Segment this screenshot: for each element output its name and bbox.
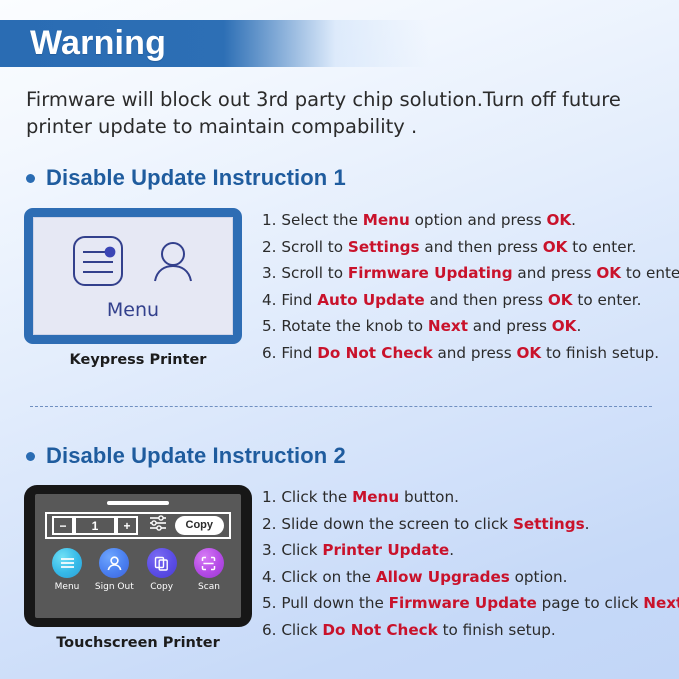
step-number: 5.: [262, 594, 281, 612]
instruction-step: 4. Click on the Allow Upgrades option.: [262, 564, 674, 591]
instruction-step: 2. Slide down the screen to click Settin…: [262, 511, 674, 538]
user-icon: [150, 236, 196, 291]
step-highlight: OK: [516, 344, 541, 362]
step-number: 3.: [262, 264, 281, 282]
scan-frame-icon[interactable]: [194, 548, 224, 578]
documents-icon[interactable]: [147, 548, 177, 578]
instruction-list-2: 1. Click the Menu button.2. Slide down t…: [262, 484, 674, 643]
keypress-printer-caption: Keypress Printer: [24, 352, 252, 368]
step-text: Pull down the: [281, 594, 388, 612]
step-text: to enter.: [573, 291, 642, 309]
step-highlight: Settings: [513, 515, 585, 533]
instruction-step: 5. Pull down the Firmware Update page to…: [262, 590, 674, 617]
keypress-printer-bezel: Menu: [24, 208, 242, 344]
step-text: Slide down the screen to click: [281, 515, 513, 533]
toolbar-right-group: Copy: [148, 514, 225, 537]
touchscreen-printer-bezel: − 1 +: [24, 485, 252, 627]
copies-stepper[interactable]: − 1 +: [52, 516, 138, 535]
step-text: and press: [513, 264, 597, 282]
instruction-list-1: 1. Select the Menu option and press OK.2…: [262, 207, 674, 366]
step-number: 3.: [262, 541, 281, 559]
step-text: Find: [281, 344, 317, 362]
touchscreen-printer-figure: − 1 +: [24, 485, 252, 651]
step-highlight: Auto Update: [317, 291, 424, 309]
app-label: Copy: [150, 582, 173, 592]
instruction-step: 3. Click Printer Update.: [262, 537, 674, 564]
step-number: 6.: [262, 621, 281, 639]
step-text: option and press: [410, 211, 547, 229]
step-text: Click: [281, 621, 322, 639]
step-highlight: Next: [428, 317, 468, 335]
step-highlight: Do Not Check: [322, 621, 437, 639]
step-highlight: Firmware Updating: [348, 264, 513, 282]
stepper-minus-button[interactable]: −: [52, 516, 74, 535]
touchscreen-toolbar: − 1 +: [45, 512, 231, 539]
menu-list-icon: [70, 233, 126, 294]
step-text: .: [449, 541, 454, 559]
app-copy[interactable]: Copy: [140, 548, 184, 592]
step-text: and press: [468, 317, 552, 335]
step-text: .: [585, 515, 590, 533]
instruction-step: 5. Rotate the knob to Next and press OK.: [262, 313, 674, 340]
step-text: Click: [281, 541, 322, 559]
instruction-step: 1. Select the Menu option and press OK.: [262, 207, 674, 234]
section-title: Disable Update Instruction 1: [46, 165, 346, 191]
instruction-step: 6. Click Do Not Check to finish setup.: [262, 617, 674, 644]
step-text: .: [576, 317, 581, 335]
section-heading-2: Disable Update Instruction 2: [26, 443, 346, 469]
step-highlight: Menu: [352, 488, 399, 506]
keypress-printer-screen: Menu: [33, 217, 233, 335]
keypress-printer-figure: Menu Keypress Printer: [24, 208, 252, 368]
step-highlight: Menu: [363, 211, 410, 229]
step-highlight: OK: [596, 264, 621, 282]
step-text: Rotate the knob to: [281, 317, 428, 335]
step-text: .: [571, 211, 576, 229]
section-divider: [30, 406, 652, 407]
app-menu[interactable]: Menu: [45, 548, 89, 592]
stepper-plus-button[interactable]: +: [116, 516, 138, 535]
step-highlight: Do Not Check: [317, 344, 432, 362]
step-highlight: Next: [643, 594, 679, 612]
step-text: option.: [510, 568, 568, 586]
step-highlight: Printer Update: [322, 541, 449, 559]
intro-paragraph: Firmware will block out 3rd party chip s…: [26, 86, 626, 140]
instruction-step: 1. Click the Menu button.: [262, 484, 674, 511]
hamburger-icon[interactable]: [52, 548, 82, 578]
step-text: and then press: [425, 291, 548, 309]
step-text: Select the: [281, 211, 362, 229]
copy-button[interactable]: Copy: [175, 516, 225, 535]
step-text: to enter.: [621, 264, 679, 282]
instruction-step: 4. Find Auto Update and then press OK to…: [262, 287, 674, 314]
keypress-screen-icons: [70, 233, 196, 294]
page-title: Warning: [30, 22, 166, 65]
step-number: 2.: [262, 238, 281, 256]
step-highlight: OK: [546, 211, 571, 229]
step-highlight: OK: [543, 238, 568, 256]
step-text: to finish setup.: [541, 344, 659, 362]
step-text: to enter.: [567, 238, 636, 256]
section-title: Disable Update Instruction 2: [46, 443, 346, 469]
app-label: Scan: [198, 582, 220, 592]
step-text: page to click: [537, 594, 643, 612]
touchscreen-app-row: Menu Sign Out: [45, 548, 231, 592]
step-highlight: OK: [552, 317, 577, 335]
step-highlight: Firmware Update: [389, 594, 537, 612]
section-heading-1: Disable Update Instruction 1: [26, 165, 346, 191]
step-text: Scroll to: [281, 238, 348, 256]
app-label: Sign Out: [95, 582, 134, 592]
instruction-step: 3. Scroll to Firmware Updating and press…: [262, 260, 674, 287]
step-number: 5.: [262, 317, 281, 335]
step-highlight: OK: [548, 291, 573, 309]
speaker-bar: [107, 501, 169, 505]
step-number: 1.: [262, 211, 281, 229]
app-scan[interactable]: Scan: [187, 548, 231, 592]
sliders-icon[interactable]: [148, 514, 168, 537]
step-number: 4.: [262, 568, 281, 586]
warning-leaflet: Warning Firmware will block out 3rd part…: [0, 0, 679, 679]
keypress-menu-label: Menu: [107, 299, 159, 321]
instruction-step: 6. Find Do Not Check and press OK to fin…: [262, 340, 674, 367]
step-text: Click on the: [281, 568, 376, 586]
step-text: Find: [281, 291, 317, 309]
bullet-icon: [26, 452, 35, 461]
stepper-value: 1: [74, 516, 116, 535]
step-text: button.: [399, 488, 459, 506]
step-number: 1.: [262, 488, 281, 506]
app-label: Menu: [55, 582, 80, 592]
bullet-icon: [26, 174, 35, 183]
touchscreen-printer-screen: − 1 +: [35, 494, 241, 618]
step-highlight: Settings: [348, 238, 420, 256]
app-sign-out[interactable]: Sign Out: [92, 548, 136, 592]
step-number: 6.: [262, 344, 281, 362]
instruction-step: 2. Scroll to Settings and then press OK …: [262, 234, 674, 261]
user-icon[interactable]: [99, 548, 129, 578]
step-number: 2.: [262, 515, 281, 533]
step-number: 4.: [262, 291, 281, 309]
touchscreen-printer-caption: Touchscreen Printer: [24, 635, 252, 651]
step-text: Scroll to: [281, 264, 348, 282]
step-text: and press: [433, 344, 517, 362]
step-text: and then press: [420, 238, 543, 256]
step-text: to finish setup.: [438, 621, 556, 639]
step-highlight: Allow Upgrades: [376, 568, 510, 586]
step-text: Click the: [281, 488, 352, 506]
